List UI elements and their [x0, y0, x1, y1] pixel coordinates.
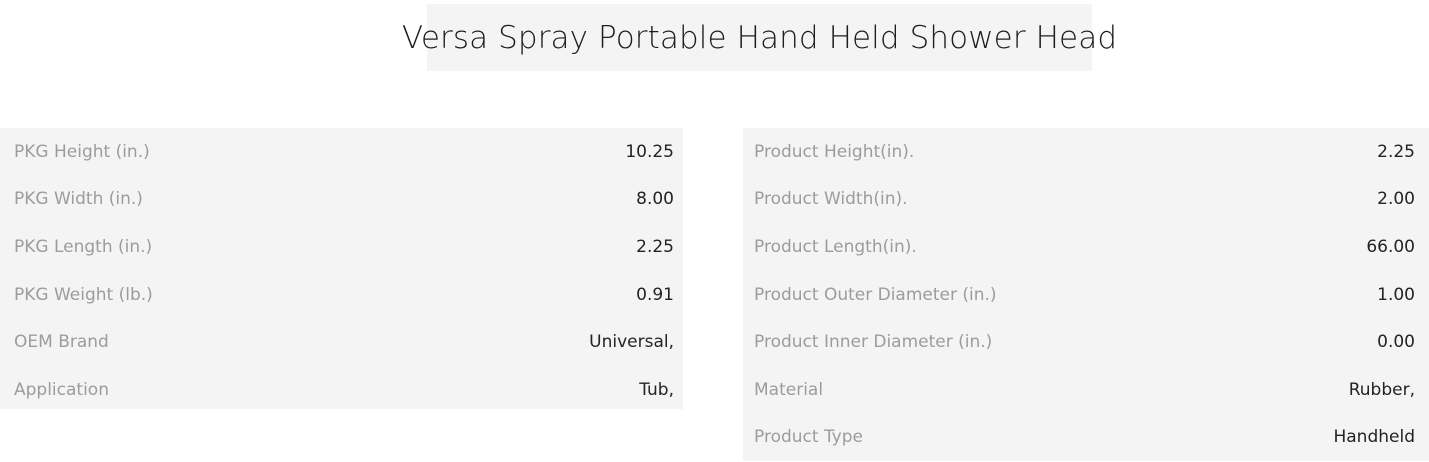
- spec-row: Product Length(in).66.00: [754, 223, 1415, 271]
- packaging-spec-value: 2.25: [616, 237, 674, 257]
- spec-row: PKG Width (in.)8.00: [14, 176, 674, 224]
- product-spec-label: Product Height(in).: [754, 142, 914, 162]
- spec-row: PKG Weight (lb.)0.91: [14, 271, 674, 319]
- product-spec-label: Product Inner Diameter (in.): [754, 332, 992, 352]
- packaging-spec-label: PKG Height (in.): [14, 142, 150, 162]
- product-spec-value: 2.00: [1357, 189, 1415, 209]
- spec-row: PKG Height (in.)10.25: [14, 128, 674, 176]
- product-specs-panel: Product Height(in).2.25Product Width(in)…: [743, 128, 1429, 461]
- packaging-spec-value: 10.25: [605, 142, 674, 162]
- product-title-banner: Versa Spray Portable Hand Held Shower He…: [427, 4, 1092, 71]
- packaging-spec-value: Tub,: [619, 380, 674, 400]
- spec-row: MaterialRubber,: [754, 366, 1415, 414]
- product-spec-value: 2.25: [1357, 142, 1415, 162]
- packaging-spec-label: PKG Length (in.): [14, 237, 152, 257]
- spec-row: Product Width(in).2.00: [754, 176, 1415, 224]
- packaging-spec-label: OEM Brand: [14, 332, 109, 352]
- product-spec-value: Handheld: [1313, 427, 1415, 447]
- product-spec-label: Product Width(in).: [754, 189, 908, 209]
- spec-row: Product Inner Diameter (in.)0.00: [754, 318, 1415, 366]
- spec-row: OEM BrandUniversal,: [14, 318, 674, 366]
- product-spec-label: Product Length(in).: [754, 237, 917, 257]
- spec-row: ApplicationTub,: [14, 366, 674, 414]
- product-spec-value: Rubber,: [1329, 380, 1415, 400]
- spec-row: Product Outer Diameter (in.)1.00: [754, 271, 1415, 319]
- product-spec-label: Material: [754, 380, 823, 400]
- product-spec-value: 1.00: [1357, 285, 1415, 305]
- spec-row: Product Height(in).2.25: [754, 128, 1415, 176]
- packaging-spec-value: 0.91: [616, 285, 674, 305]
- packaging-spec-value: 8.00: [616, 189, 674, 209]
- product-spec-value: 0.00: [1357, 332, 1415, 352]
- product-spec-label: Product Outer Diameter (in.): [754, 285, 997, 305]
- spec-row: PKG Length (in.)2.25: [14, 223, 674, 271]
- product-spec-label: Product Type: [754, 427, 863, 447]
- packaging-spec-label: Application: [14, 380, 109, 400]
- product-spec-value: 66.00: [1346, 237, 1415, 257]
- page-title: Versa Spray Portable Hand Held Shower He…: [402, 20, 1117, 56]
- packaging-spec-label: PKG Weight (lb.): [14, 285, 153, 305]
- packaging-specs-panel: PKG Height (in.)10.25PKG Width (in.)8.00…: [0, 128, 683, 409]
- packaging-spec-value: Universal,: [569, 332, 674, 352]
- packaging-spec-label: PKG Width (in.): [14, 189, 143, 209]
- spec-row: Product TypeHandheld: [754, 414, 1415, 462]
